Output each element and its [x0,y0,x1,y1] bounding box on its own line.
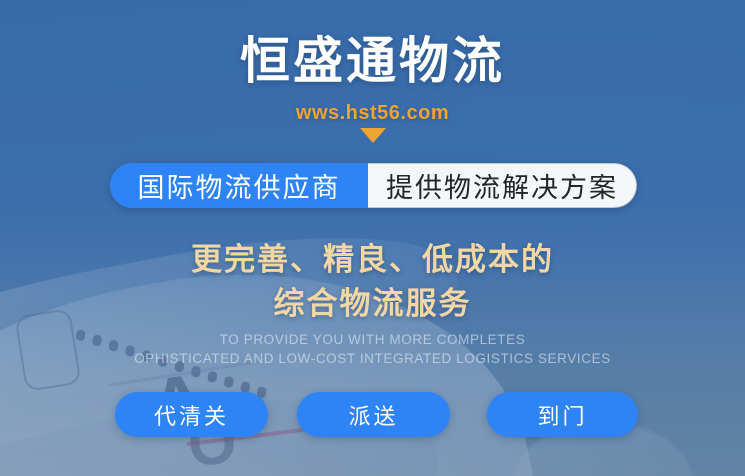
triangle-down-icon [360,128,386,143]
headline-line-1: 更完善、精良、低成本的 [191,242,554,277]
service-button-door-to-door[interactable]: 到门 [487,392,638,437]
arrow-indicator [0,128,745,143]
english-subtitle-line-2: OPHISTICATED AND LOW-COST INTEGRATED LOG… [0,349,745,368]
service-button-row: 代清关 派送 到门 [0,392,745,437]
brand-title: 恒盛通物流 [0,36,745,86]
website-url: wws.hst56.com [0,102,745,125]
headline-line-2: 综合物流服务 [0,282,745,326]
banner-content: 恒盛通物流 wws.hst56.com 国际物流供应商 提供物流解决方案 更完善… [0,0,745,476]
english-subtitle-line-1: TO PROVIDE YOU WITH MORE COMPLETES [0,330,745,349]
headline: 更完善、精良、低成本的 综合物流服务 [0,238,745,326]
service-button-customs-clearance[interactable]: 代清关 [115,392,268,437]
badge-supplier-label: 国际物流供应商 [110,163,368,208]
english-subtitle: TO PROVIDE YOU WITH MORE COMPLETES OPHIS… [0,330,745,368]
logistics-promo-banner: A O 恒盛通物流 wws.hst56.com 国际物流供应商 提供物流解决方案… [0,0,745,476]
badge-solution-label: 提供物流解决方案 [368,163,637,208]
service-button-delivery[interactable]: 派送 [297,392,450,437]
tagline-badge: 国际物流供应商 提供物流解决方案 [110,163,637,208]
